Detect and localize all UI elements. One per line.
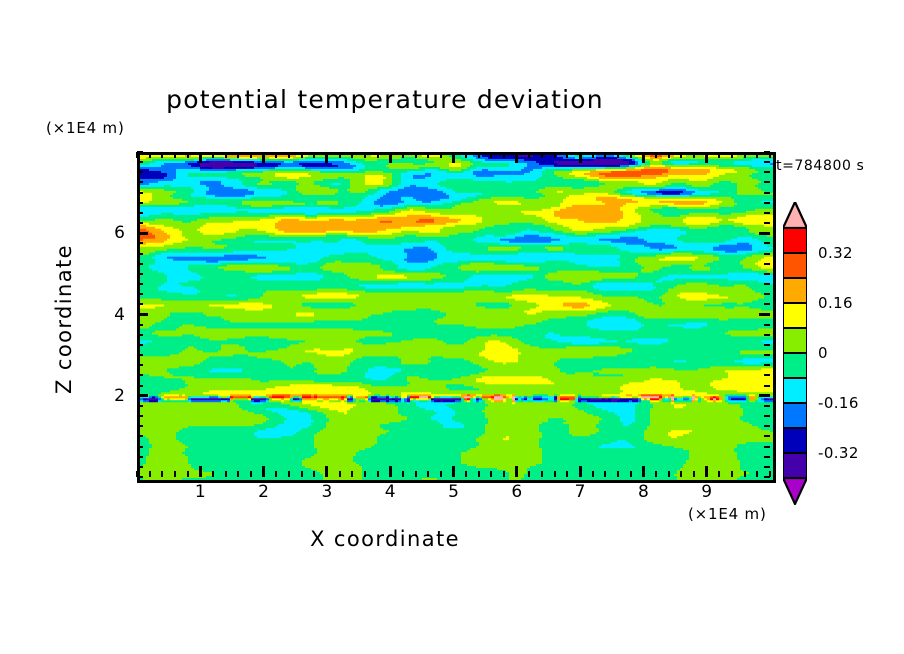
axis-tick	[528, 471, 530, 477]
axis-tick	[764, 253, 770, 255]
axis-tick	[137, 171, 143, 173]
y-axis-title: Z coordinate	[52, 189, 76, 449]
plot-area	[137, 152, 776, 483]
axis-tick	[137, 364, 143, 366]
axis-tick	[137, 283, 143, 285]
colorbar-tick-label: -0.16	[818, 394, 859, 412]
axis-tick	[377, 152, 379, 158]
axis-tick	[630, 471, 632, 477]
axis-tick	[764, 202, 770, 204]
axis-tick	[764, 293, 770, 295]
axis-tick	[764, 446, 770, 448]
axis-tick	[325, 152, 328, 163]
axis-tick	[137, 181, 143, 183]
axis-tick	[554, 152, 556, 158]
axis-tick	[528, 152, 530, 158]
axis-tick	[288, 471, 290, 477]
axis-tick	[351, 471, 353, 477]
colorbar-band	[783, 453, 807, 478]
axis-tick	[137, 354, 143, 356]
axis-tick	[764, 425, 770, 427]
axis-tick	[225, 471, 227, 477]
axis-tick	[680, 152, 682, 158]
axis-tick	[402, 152, 404, 158]
axis-tick	[604, 471, 606, 477]
axis-tick	[427, 471, 429, 477]
axis-tick	[339, 471, 341, 477]
axis-tick	[764, 415, 770, 417]
axis-tick	[199, 152, 202, 163]
axis-tick	[187, 471, 189, 477]
axis-tick	[137, 212, 143, 214]
axis-tick	[764, 273, 770, 275]
colorbar-band	[783, 328, 807, 353]
x-tick-label: 3	[321, 482, 332, 502]
axis-tick	[440, 152, 442, 158]
axis-tick	[579, 466, 582, 477]
axis-tick	[301, 152, 303, 158]
axis-tick	[137, 303, 143, 305]
axis-tick	[137, 161, 143, 163]
axis-tick	[137, 476, 143, 478]
axis-tick	[759, 313, 770, 316]
contour-field	[140, 155, 773, 480]
contour-field-svg	[140, 155, 773, 480]
axis-tick	[161, 152, 163, 158]
axis-tick	[137, 415, 143, 417]
axis-tick	[655, 152, 657, 158]
colorbar-band	[783, 403, 807, 428]
axis-tick	[705, 466, 708, 477]
axis-tick	[490, 471, 492, 477]
axis-tick	[137, 334, 143, 336]
axis-tick	[764, 435, 770, 437]
axis-tick	[668, 152, 670, 158]
axis-tick	[490, 152, 492, 158]
axis-tick	[137, 405, 143, 407]
axis-tick	[566, 152, 568, 158]
x-tick-label: 4	[385, 482, 396, 502]
axis-tick	[199, 466, 202, 477]
colorbar-band	[783, 353, 807, 378]
axis-tick	[554, 471, 556, 477]
axis-tick	[389, 466, 392, 477]
axis-tick	[764, 303, 770, 305]
axis-tick	[478, 471, 480, 477]
axis-tick	[764, 476, 770, 478]
colorbar-band	[783, 253, 807, 278]
axis-tick	[503, 152, 505, 158]
axis-tick	[137, 253, 143, 255]
axis-tick	[137, 192, 143, 194]
axis-tick	[262, 466, 265, 477]
axis-tick	[764, 222, 770, 224]
colorbar-band	[783, 378, 807, 403]
y-tick-label: 2	[97, 386, 125, 406]
axis-tick	[579, 152, 582, 163]
axis-tick	[440, 471, 442, 477]
axis-tick	[313, 471, 315, 477]
y-tick-label: 4	[97, 305, 125, 325]
x-tick-label: 8	[638, 482, 649, 502]
axis-tick	[642, 466, 645, 477]
axis-tick	[313, 152, 315, 158]
chart-canvas: potential temperature deviation (×1E4 m)…	[0, 0, 904, 654]
axis-tick	[149, 152, 151, 158]
axis-tick	[566, 471, 568, 477]
colorbar	[783, 228, 807, 478]
page-title: potential temperature deviation	[0, 85, 770, 114]
axis-tick	[465, 471, 467, 477]
axis-tick	[604, 152, 606, 158]
axis-tick	[764, 171, 770, 173]
axis-tick	[137, 466, 143, 468]
colorbar-band	[783, 278, 807, 303]
axis-tick	[764, 283, 770, 285]
axis-tick	[161, 471, 163, 477]
axis-tick	[137, 446, 143, 448]
axis-tick	[137, 222, 143, 224]
axis-tick	[212, 152, 214, 158]
axis-tick	[515, 466, 518, 477]
axis-tick	[764, 324, 770, 326]
axis-tick	[668, 471, 670, 477]
axis-tick	[764, 242, 770, 244]
colorbar-over-arrow	[783, 202, 807, 228]
axis-tick	[364, 471, 366, 477]
axis-tick	[275, 471, 277, 477]
axis-tick	[187, 152, 189, 158]
axis-tick	[693, 152, 695, 158]
colorbar-under-arrow	[783, 478, 807, 504]
axis-tick	[262, 152, 265, 163]
axis-tick	[137, 385, 143, 387]
axis-tick	[137, 435, 143, 437]
y-tick-label: 6	[97, 223, 125, 243]
axis-tick	[764, 334, 770, 336]
axis-tick	[137, 374, 143, 376]
x-tick-label: 9	[701, 482, 712, 502]
axis-tick	[237, 471, 239, 477]
axis-tick	[250, 471, 252, 477]
axis-tick	[452, 152, 455, 163]
axis-tick	[764, 374, 770, 376]
axis-tick	[377, 471, 379, 477]
axis-tick	[764, 385, 770, 387]
axis-tick	[137, 242, 143, 244]
colorbar-band	[783, 428, 807, 453]
axis-tick	[617, 152, 619, 158]
x-tick-label: 1	[195, 482, 206, 502]
axis-tick	[764, 263, 770, 265]
axis-tick	[764, 151, 770, 153]
axis-tick	[415, 152, 417, 158]
time-annotation: t=784800 s	[776, 158, 864, 174]
axis-tick	[174, 152, 176, 158]
axis-tick	[764, 192, 770, 194]
colorbar-band	[783, 303, 807, 328]
axis-tick	[364, 152, 366, 158]
axis-tick	[642, 152, 645, 163]
axis-tick	[764, 354, 770, 356]
axis-tick	[759, 232, 770, 235]
axis-tick	[756, 471, 758, 477]
axis-tick	[452, 466, 455, 477]
axis-tick	[137, 232, 148, 235]
axis-tick	[478, 152, 480, 158]
axis-tick	[503, 471, 505, 477]
axis-tick	[764, 364, 770, 366]
axis-tick	[764, 212, 770, 214]
axis-tick	[137, 456, 143, 458]
axis-tick	[718, 152, 720, 158]
axis-tick	[764, 456, 770, 458]
axis-tick	[541, 471, 543, 477]
axis-tick	[174, 471, 176, 477]
axis-tick	[744, 152, 746, 158]
axis-tick	[764, 344, 770, 346]
axis-tick	[744, 471, 746, 477]
axis-tick	[137, 324, 143, 326]
axis-tick	[325, 466, 328, 477]
axis-tick	[592, 152, 594, 158]
colorbar-tick-label: -0.32	[818, 444, 859, 462]
axis-tick	[759, 394, 770, 397]
axis-tick	[137, 263, 143, 265]
axis-tick	[680, 471, 682, 477]
x-axis-unit-label: (×1E4 m)	[688, 505, 767, 523]
x-tick-label: 2	[258, 482, 269, 502]
axis-tick	[301, 471, 303, 477]
axis-tick	[764, 466, 770, 468]
axis-tick	[427, 152, 429, 158]
axis-tick	[137, 313, 148, 316]
axis-tick	[237, 152, 239, 158]
axis-tick	[137, 151, 143, 153]
x-axis-title: X coordinate	[0, 527, 904, 551]
axis-tick	[225, 152, 227, 158]
colorbar-tick-label: 0.32	[818, 244, 853, 262]
axis-tick	[137, 293, 143, 295]
axis-tick	[705, 152, 708, 163]
axis-tick	[592, 471, 594, 477]
axis-tick	[351, 152, 353, 158]
axis-tick	[541, 152, 543, 158]
axis-tick	[137, 425, 143, 427]
axis-tick	[465, 152, 467, 158]
axis-tick	[402, 471, 404, 477]
axis-tick	[339, 152, 341, 158]
axis-tick	[389, 152, 392, 163]
axis-tick	[250, 152, 252, 158]
axis-tick	[764, 161, 770, 163]
axis-tick	[764, 405, 770, 407]
axis-tick	[137, 202, 143, 204]
axis-tick	[515, 152, 518, 163]
colorbar-tick-label: 0.16	[818, 294, 853, 312]
axis-tick	[288, 152, 290, 158]
axis-tick	[731, 471, 733, 477]
x-tick-label: 5	[448, 482, 459, 502]
axis-tick	[275, 152, 277, 158]
axis-tick	[655, 471, 657, 477]
y-axis-unit-label: (×1E4 m)	[46, 119, 125, 137]
x-tick-label: 7	[575, 482, 586, 502]
colorbar-band	[783, 228, 807, 253]
axis-tick	[731, 152, 733, 158]
axis-tick	[764, 181, 770, 183]
axis-tick	[149, 471, 151, 477]
x-tick-label: 6	[511, 482, 522, 502]
axis-tick	[693, 471, 695, 477]
axis-tick	[137, 344, 143, 346]
axis-tick	[137, 273, 143, 275]
axis-tick	[756, 152, 758, 158]
axis-tick	[415, 471, 417, 477]
axis-tick	[718, 471, 720, 477]
axis-tick	[212, 471, 214, 477]
colorbar-tick-label: 0	[818, 344, 828, 362]
axis-tick	[630, 152, 632, 158]
axis-tick	[617, 471, 619, 477]
axis-tick	[137, 394, 148, 397]
